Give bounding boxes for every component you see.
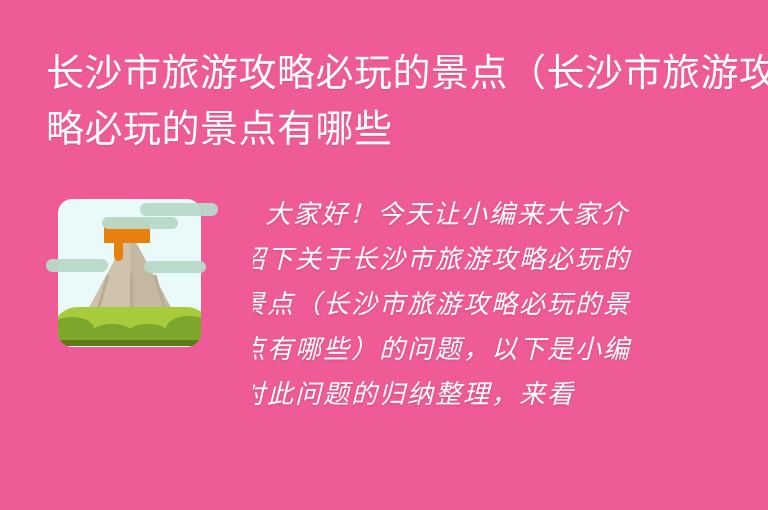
lava-drip-icon <box>114 229 123 261</box>
cloud-icon <box>140 203 218 216</box>
cloud-icon <box>144 261 206 273</box>
content-row: 大家好！今天让小编来大家介绍下关于长沙市旅游攻略必玩的景点（长沙市旅游攻略必玩的… <box>0 193 768 493</box>
article-banner: 长沙市旅游攻略必玩的景点（长沙市旅游攻略必玩的景点有哪些 <box>0 0 768 510</box>
grass-bump-icon <box>166 316 201 341</box>
volcano-icon <box>52 197 207 352</box>
grass-bump-icon <box>58 317 94 341</box>
cloud-icon <box>102 217 178 229</box>
article-body: 大家好！今天让小编来大家介绍下关于长沙市旅游攻略必玩的景点（长沙市旅游攻略必玩的… <box>253 193 641 445</box>
cloud-icon <box>46 259 108 272</box>
grass-bump-icon <box>128 324 168 341</box>
ground-strip-icon <box>58 340 201 346</box>
article-body-text: 大家好！今天让小编来大家介绍下关于长沙市旅游攻略必玩的景点（长沙市旅游攻略必玩的… <box>253 193 641 418</box>
grass-bump-icon <box>92 324 132 341</box>
page-title: 长沙市旅游攻略必玩的景点（长沙市旅游攻略必玩的景点有哪些 <box>46 46 768 176</box>
page-title-text: 长沙市旅游攻略必玩的景点（长沙市旅游攻略必玩的景点有哪些 <box>46 46 768 158</box>
illustration-frame <box>58 199 201 347</box>
